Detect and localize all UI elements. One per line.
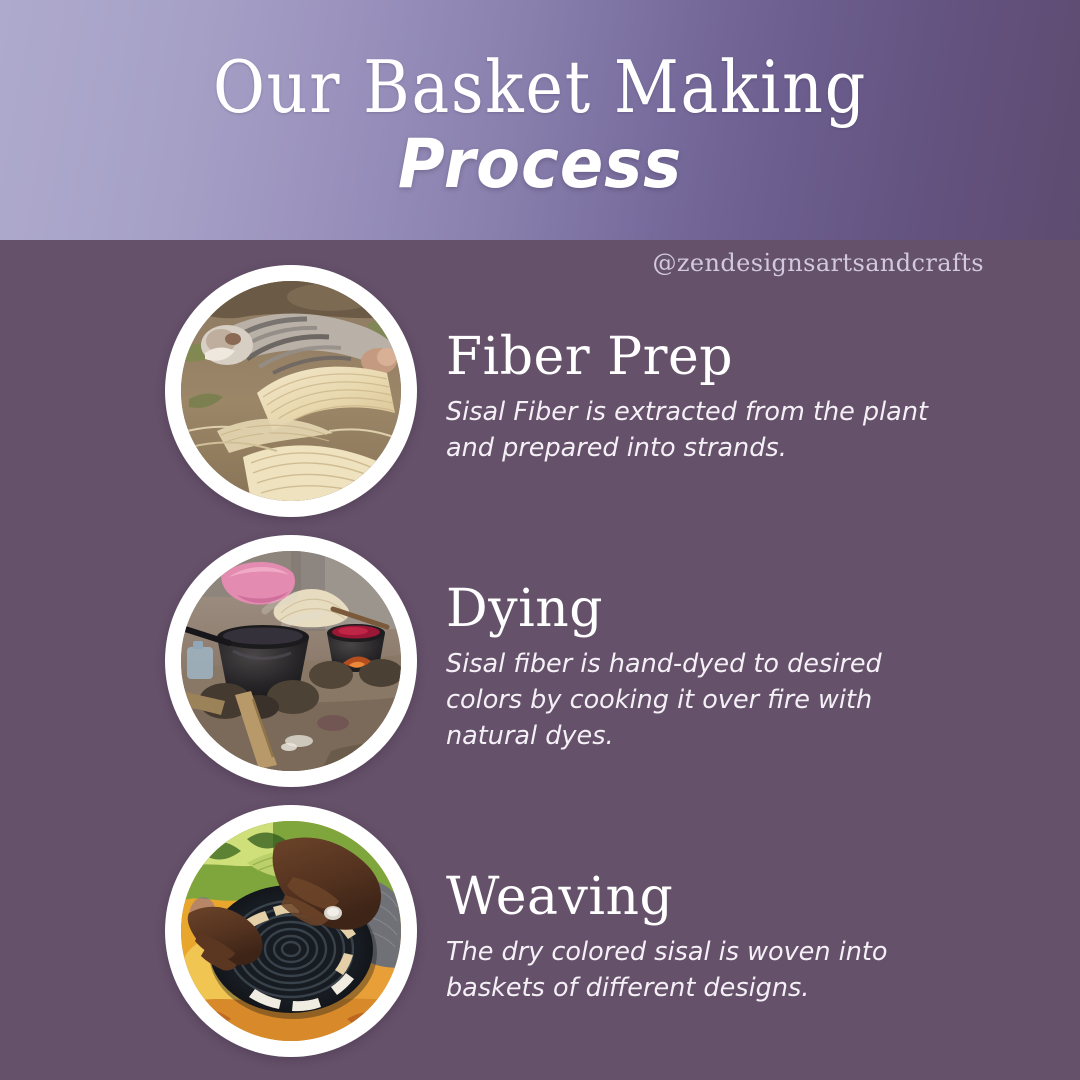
poster-title: Our Basket Making Process — [0, 0, 1080, 202]
title-line-accent: Process — [32, 126, 1047, 202]
dying-photo — [181, 551, 401, 771]
fiber-prep-photo — [181, 281, 401, 501]
list-item: Dying Sisal fiber is hand-dyed to desire… — [0, 532, 1080, 802]
step-photo-slot — [0, 802, 420, 1072]
step-description: Sisal fiber is hand-dyed to desired colo… — [446, 646, 951, 754]
step-description: The dry colored sisal is woven into bask… — [446, 934, 951, 1006]
steps-list: Fiber Prep Sisal Fiber is extracted from… — [0, 262, 1080, 1072]
weaving-photo — [181, 821, 401, 1041]
step-title: Fiber Prep — [446, 328, 1000, 386]
step-photo-slot — [0, 262, 420, 532]
header-band: Our Basket Making Process — [0, 0, 1080, 240]
step-photo-slot — [0, 532, 420, 802]
step-text-block: Dying Sisal fiber is hand-dyed to desire… — [420, 580, 1080, 754]
list-item: Fiber Prep Sisal Fiber is extracted from… — [0, 262, 1080, 532]
step-text-block: Weaving The dry colored sisal is woven i… — [420, 868, 1080, 1006]
step-title: Weaving — [446, 868, 1000, 926]
step-description: Sisal Fiber is extracted from the plant … — [446, 394, 951, 466]
photo-ring — [165, 265, 417, 517]
step-title: Dying — [446, 580, 1000, 638]
title-line-primary: Our Basket Making — [65, 0, 1015, 126]
photo-ring — [165, 535, 417, 787]
list-item: Weaving The dry colored sisal is woven i… — [0, 802, 1080, 1072]
process-poster: Our Basket Making Process @zendesignsart… — [0, 0, 1080, 1080]
photo-ring — [165, 805, 417, 1057]
step-text-block: Fiber Prep Sisal Fiber is extracted from… — [420, 328, 1080, 466]
